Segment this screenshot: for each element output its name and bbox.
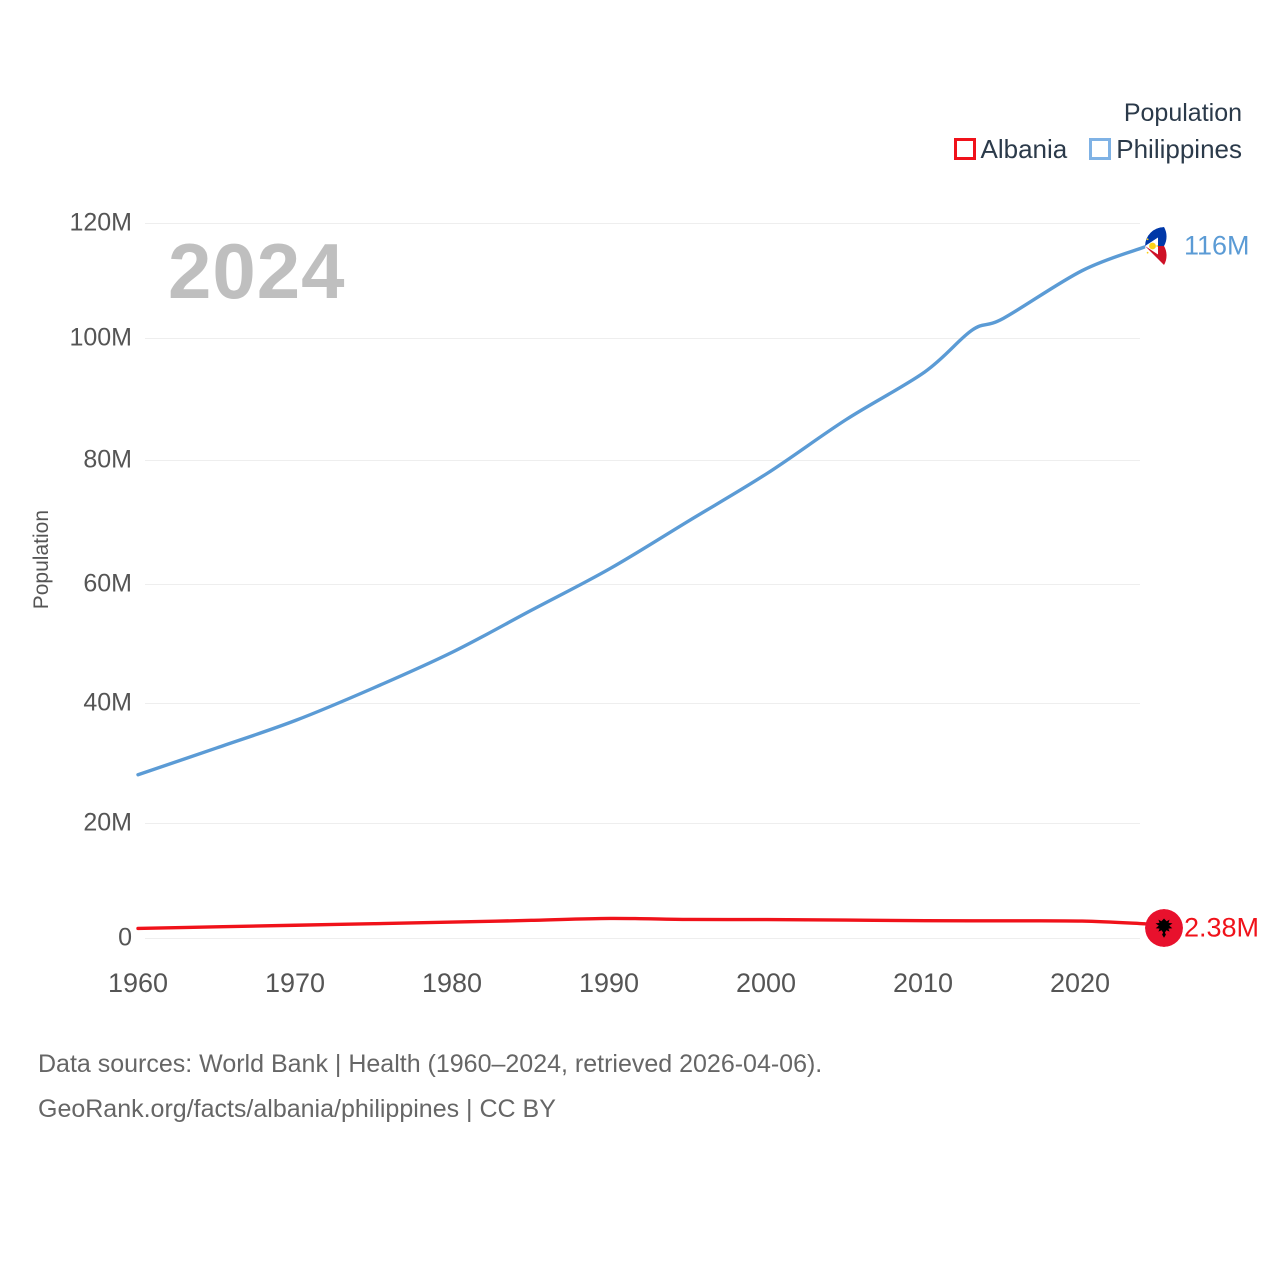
footer-attribution: Data sources: World Bank | Health (1960–… [38, 1042, 822, 1132]
x-tick-1990: 1990 [539, 968, 679, 999]
y-tick-20m: 20M [12, 809, 132, 838]
legend-label-albania: Albania [981, 134, 1068, 164]
x-tick-2010: 2010 [853, 968, 993, 999]
legend-item-philippines[interactable]: Philippines [1089, 134, 1242, 164]
legend-item-albania[interactable]: Albania [954, 134, 1068, 164]
gridline-80m [145, 460, 1140, 461]
x-tick-1960: 1960 [68, 968, 208, 999]
x-tick-1980: 1980 [382, 968, 522, 999]
end-label-philippines: 116M [1184, 231, 1250, 262]
footer-line-sources: Data sources: World Bank | Health (1960–… [38, 1042, 822, 1087]
legend-items: Albania Philippines [954, 134, 1242, 164]
plot-area [145, 223, 1140, 938]
chart-legend: Population Albania Philippines [954, 96, 1242, 164]
gridline-100m [145, 338, 1140, 339]
legend-title: Population [954, 96, 1242, 130]
year-watermark: 2024 [168, 228, 346, 314]
y-tick-40m: 40M [12, 689, 132, 718]
chart-page: Population Albania Philippines Populatio… [0, 0, 1280, 1280]
legend-label-philippines: Philippines [1116, 134, 1242, 164]
gridline-0 [145, 938, 1140, 939]
y-tick-100m: 100M [12, 324, 132, 353]
footer-line-license[interactable]: GeoRank.org/facts/albania/philippines | … [38, 1087, 822, 1132]
legend-swatch-philippines [1089, 138, 1111, 160]
y-tick-120m: 120M [12, 209, 132, 238]
x-tick-2020: 2020 [1010, 968, 1150, 999]
gridline-40m [145, 703, 1140, 704]
x-tick-2000: 2000 [696, 968, 836, 999]
legend-swatch-albania [954, 138, 976, 160]
gridline-20m [145, 823, 1140, 824]
albania-flag-icon [1145, 909, 1183, 947]
end-label-albania: 2.38M [1184, 913, 1259, 944]
y-tick-80m: 80M [12, 446, 132, 475]
gridline-60m [145, 584, 1140, 585]
y-tick-60m: 60M [12, 570, 132, 599]
x-tick-1970: 1970 [225, 968, 365, 999]
philippines-flag-icon [1145, 227, 1183, 265]
gridline-120m [145, 223, 1140, 224]
y-tick-0: 0 [12, 924, 132, 953]
